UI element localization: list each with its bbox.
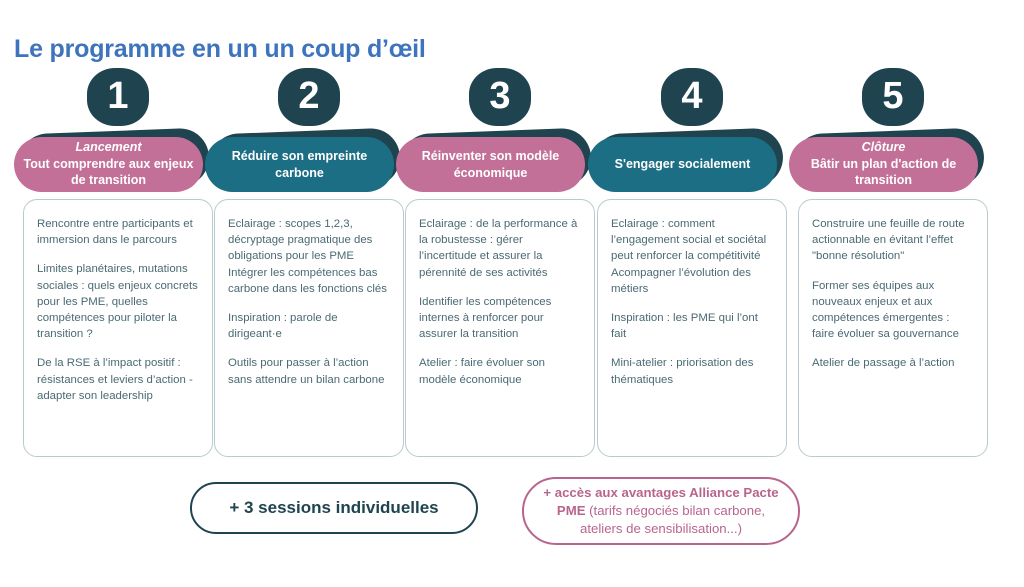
step-card-3: Eclairage : de la performance à la robus…	[405, 199, 595, 457]
step-number-badge-3: 3	[469, 68, 531, 126]
sessions-badge: + 3 sessions individuelles	[190, 482, 478, 534]
step-paragraph: De la RSE à l’impact positif : résistanc…	[37, 355, 199, 404]
alliance-rest-label: (tarifs négociés bilan carbone, ateliers…	[580, 503, 765, 536]
page-title: Le programme en un un coup d’œil	[14, 35, 426, 64]
step-paragraph: Inspiration : les PME qui l’ont fait	[611, 310, 773, 342]
step-header-pill-1: Lancement Tout comprendre aux enjeux de …	[14, 137, 203, 192]
step-number-badge-5: 5	[862, 68, 924, 126]
step-column-1: 1 Lancement Tout comprendre aux enjeux d…	[23, 68, 213, 457]
step-header-4: S'engager socialement	[597, 131, 787, 193]
step-header-pill-2: Réduire son empreinte carbone	[205, 137, 394, 192]
step-card-1: Rencontre entre participants et immersio…	[23, 199, 213, 457]
step-paragraph: Former ses équipes aux nouveaux enjeux e…	[812, 278, 974, 343]
step-badge-wrap-4: 4	[597, 68, 787, 126]
step-header-3: Réinventer son modèle économique	[405, 131, 595, 193]
step-kicker-1: Lancement	[76, 140, 142, 156]
step-column-2: 2 Réduire son empreinte carbone Eclairag…	[214, 68, 404, 457]
step-badge-wrap-3: 3	[405, 68, 595, 126]
step-paragraph: Identifier les compétences internes à re…	[419, 294, 581, 343]
step-paragraph: Rencontre entre participants et immersio…	[37, 216, 199, 248]
sessions-label: + 3 sessions individuelles	[229, 498, 438, 518]
step-card-4: Eclairage : comment l’engagement social …	[597, 199, 787, 457]
step-header-5: Clôture Bâtir un plan d'action de transi…	[798, 131, 988, 193]
step-number-badge-4: 4	[661, 68, 723, 126]
step-paragraph: Limites planétaires, mutations sociales …	[37, 261, 199, 342]
step-paragraph: Eclairage : scopes 1,2,3, décryptage pra…	[228, 216, 390, 297]
alliance-badge: + accès aux avantages Alliance Pacte PME…	[522, 477, 800, 545]
step-header-2: Réduire son empreinte carbone	[214, 131, 404, 193]
step-header-1: Lancement Tout comprendre aux enjeux de …	[23, 131, 213, 193]
step-column-4: 4 S'engager socialement Eclairage : comm…	[597, 68, 787, 457]
step-number-badge-2: 2	[278, 68, 340, 126]
step-badge-wrap-2: 2	[214, 68, 404, 126]
step-badge-wrap-5: 5	[798, 68, 988, 126]
step-header-pill-5: Clôture Bâtir un plan d'action de transi…	[789, 137, 978, 192]
step-column-5: 5 Clôture Bâtir un plan d'action de tran…	[798, 68, 988, 457]
step-paragraph: Inspiration : parole de dirigeant·e	[228, 310, 390, 342]
step-badge-wrap-1: 1	[23, 68, 213, 126]
step-paragraph: Mini-atelier : priorisation des thématiq…	[611, 355, 773, 387]
step-paragraph: Outils pour passer à l’action sans atten…	[228, 355, 390, 387]
step-number-badge-1: 1	[87, 68, 149, 126]
step-kicker-5: Clôture	[862, 140, 906, 156]
step-title-1: Tout comprendre aux enjeux de transition	[22, 156, 195, 189]
step-title-5: Bâtir un plan d'action de transition	[797, 156, 970, 189]
step-paragraph: Eclairage : de la performance à la robus…	[419, 216, 581, 281]
step-title-3: Réinventer son modèle économique	[404, 148, 577, 181]
step-header-pill-4: S'engager socialement	[588, 137, 777, 192]
step-column-3: 3 Réinventer son modèle économique Eclai…	[405, 68, 595, 457]
step-card-2: Eclairage : scopes 1,2,3, décryptage pra…	[214, 199, 404, 457]
step-paragraph: Atelier : faire évoluer son modèle écono…	[419, 355, 581, 387]
step-paragraph: Construire une feuille de route actionna…	[812, 216, 974, 265]
step-card-5: Construire une feuille de route actionna…	[798, 199, 988, 457]
step-title-4: S'engager socialement	[615, 156, 751, 172]
step-paragraph: Eclairage : comment l’engagement social …	[611, 216, 773, 297]
step-paragraph: Atelier de passage à l’action	[812, 355, 974, 371]
step-header-pill-3: Réinventer son modèle économique	[396, 137, 585, 192]
alliance-text: + accès aux avantages Alliance Pacte PME…	[540, 484, 782, 537]
step-title-2: Réduire son empreinte carbone	[213, 148, 386, 181]
